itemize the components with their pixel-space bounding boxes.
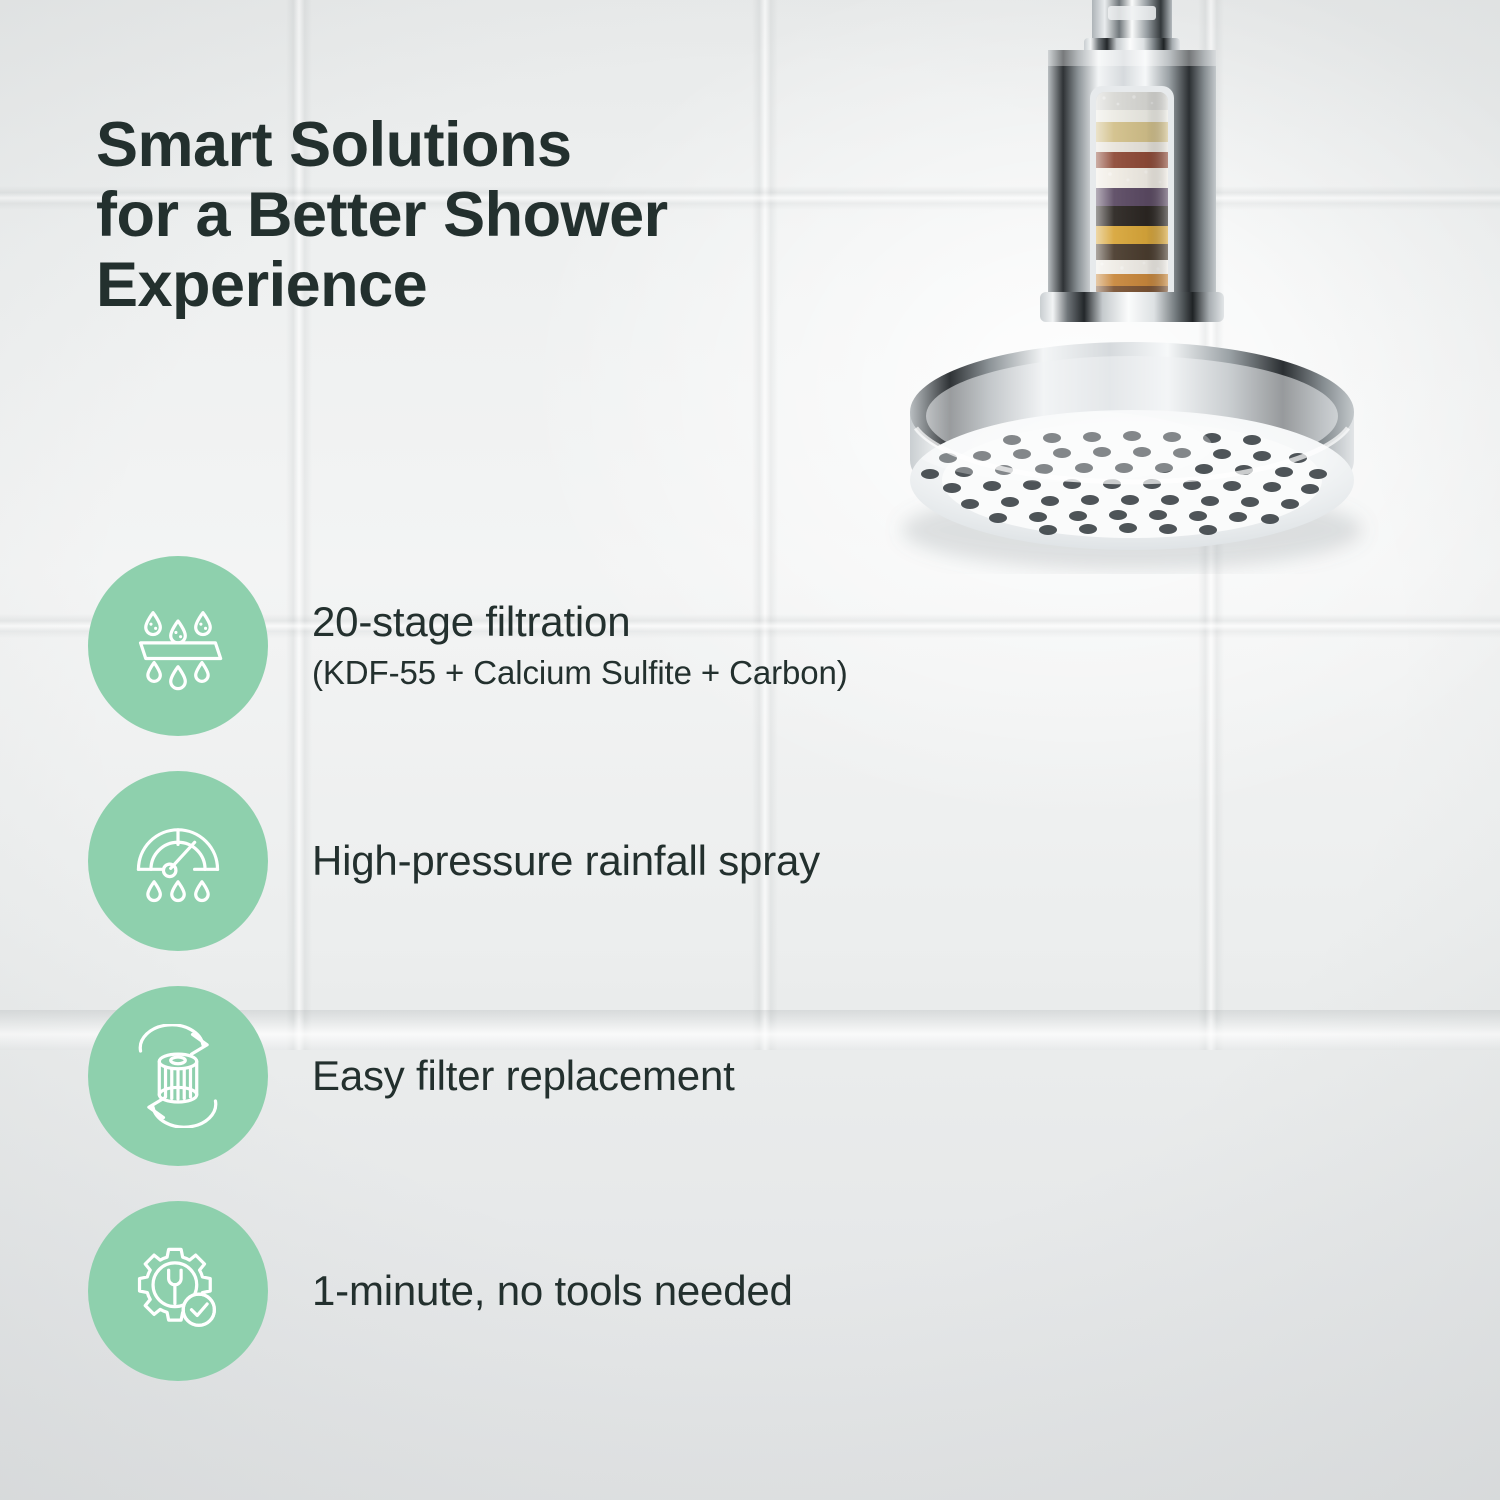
infographic-canvas: Smart Solutions for a Better Shower Expe… [0,0,1500,1500]
gear-wrench-check-icon [88,1201,268,1381]
filter-media-layers [1096,92,1168,298]
page-headline: Smart Solutions for a Better Shower Expe… [96,110,896,321]
feature-title: 20-stage filtration [312,597,1052,647]
feature-text: 20-stage filtration (KDF-55 + Calcium Su… [312,556,1052,736]
water-filtration-icon [88,556,268,736]
feature-list: 20-stage filtration (KDF-55 + Calcium Su… [0,548,1060,1408]
feature-subtitle: (KDF-55 + Calcium Sulfite + Carbon) [312,652,1052,695]
filter-replacement-icon [88,986,268,1166]
shower-head-product-image [812,0,1452,574]
feature-text: High-pressure rainfall spray [312,771,1052,951]
feature-row: 20-stage filtration (KDF-55 + Calcium Su… [0,548,1060,763]
feature-row: Easy filter replacement [0,978,1060,1193]
feature-row: 1-minute, no tools needed [0,1193,1060,1408]
feature-text: Easy filter replacement [312,986,1052,1166]
feature-text: 1-minute, no tools needed [312,1201,1052,1381]
feature-title: Easy filter replacement [312,1051,1052,1101]
feature-title: 1-minute, no tools needed [312,1266,1052,1316]
feature-title: High-pressure rainfall spray [312,836,1052,886]
feature-row: High-pressure rainfall spray [0,763,1060,978]
pressure-gauge-icon [88,771,268,951]
